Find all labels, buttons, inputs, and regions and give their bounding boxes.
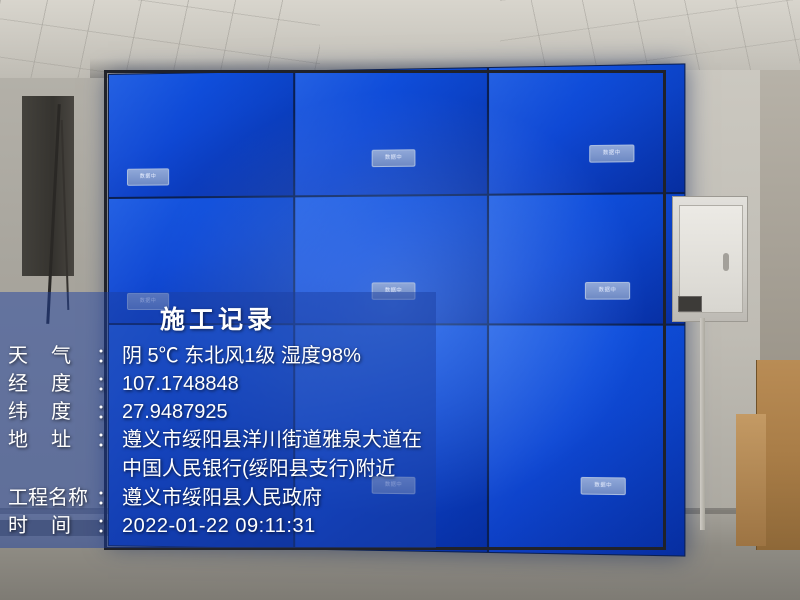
- construction-record-overlay: 施工记录 天 气 ： 阴 5℃ 东北风1级 湿度98% 经 度 ： 107.17…: [0, 292, 436, 548]
- panel-tag-label: 数据中: [372, 149, 416, 167]
- cabinet-handle: [723, 253, 729, 271]
- overlay-row-address: 地 址 ： 遵义市绥阳县洋川街道雅泉大道在中国人民银行(绥阳县支行)附近: [8, 426, 428, 484]
- longitude-value: 107.1748848: [116, 370, 428, 398]
- weather-value: 阴 5℃ 东北风1级 湿度98%: [116, 342, 428, 370]
- panel-tag-label: 数据中: [581, 477, 626, 495]
- address-label: 地 址 ：: [8, 426, 116, 454]
- wall-conduit: [700, 318, 705, 530]
- project-name-label: 工程名称 ：: [8, 484, 116, 512]
- timestamp-value: 2022-01-22 09:11:31: [116, 512, 428, 540]
- latitude-value: 27.9487925: [116, 398, 428, 426]
- video-wall-panel: 数据中: [108, 71, 294, 198]
- video-wall-panel: 数据中: [488, 63, 685, 194]
- video-wall-panel: 数据中: [294, 67, 488, 196]
- cardboard-panel-secondary: [736, 414, 766, 546]
- longitude-label: 经 度 ：: [8, 370, 116, 398]
- overlay-row-project-name: 工程名称 ： 遵义市绥阳县人民政府: [8, 484, 428, 512]
- overlay-row-timestamp: 时 间 ： 2022-01-22 09:11:31: [8, 512, 428, 540]
- overlay-row-latitude: 纬 度 ： 27.9487925: [8, 398, 428, 426]
- video-wall-panel: 数据中: [488, 324, 685, 556]
- video-wall-panel: 数据中: [488, 193, 685, 325]
- overlay-rows: 天 气 ： 阴 5℃ 东北风1级 湿度98% 经 度 ： 107.1748848…: [0, 342, 436, 546]
- timestamp-label: 时 间 ：: [8, 512, 116, 540]
- wall-device-box: [678, 296, 702, 312]
- overlay-row-longitude: 经 度 ： 107.1748848: [8, 370, 428, 398]
- overlay-title: 施工记录: [0, 292, 436, 342]
- latitude-label: 纬 度 ：: [8, 398, 116, 426]
- panel-tag-label: 数据中: [127, 168, 169, 185]
- panel-tag-label: 数据中: [589, 144, 634, 162]
- project-name-value: 遵义市绥阳县人民政府: [116, 484, 428, 512]
- photo-canvas: 数据中 数据中 数据中 数据中 数据中 数据中 数据中 数据中: [0, 0, 800, 600]
- overlay-row-weather: 天 气 ： 阴 5℃ 东北风1级 湿度98%: [8, 342, 428, 370]
- panel-tag-label: 数据中: [585, 282, 630, 300]
- weather-label: 天 气 ：: [8, 342, 116, 370]
- address-value: 遵义市绥阳县洋川街道雅泉大道在中国人民银行(绥阳县支行)附近: [116, 426, 428, 484]
